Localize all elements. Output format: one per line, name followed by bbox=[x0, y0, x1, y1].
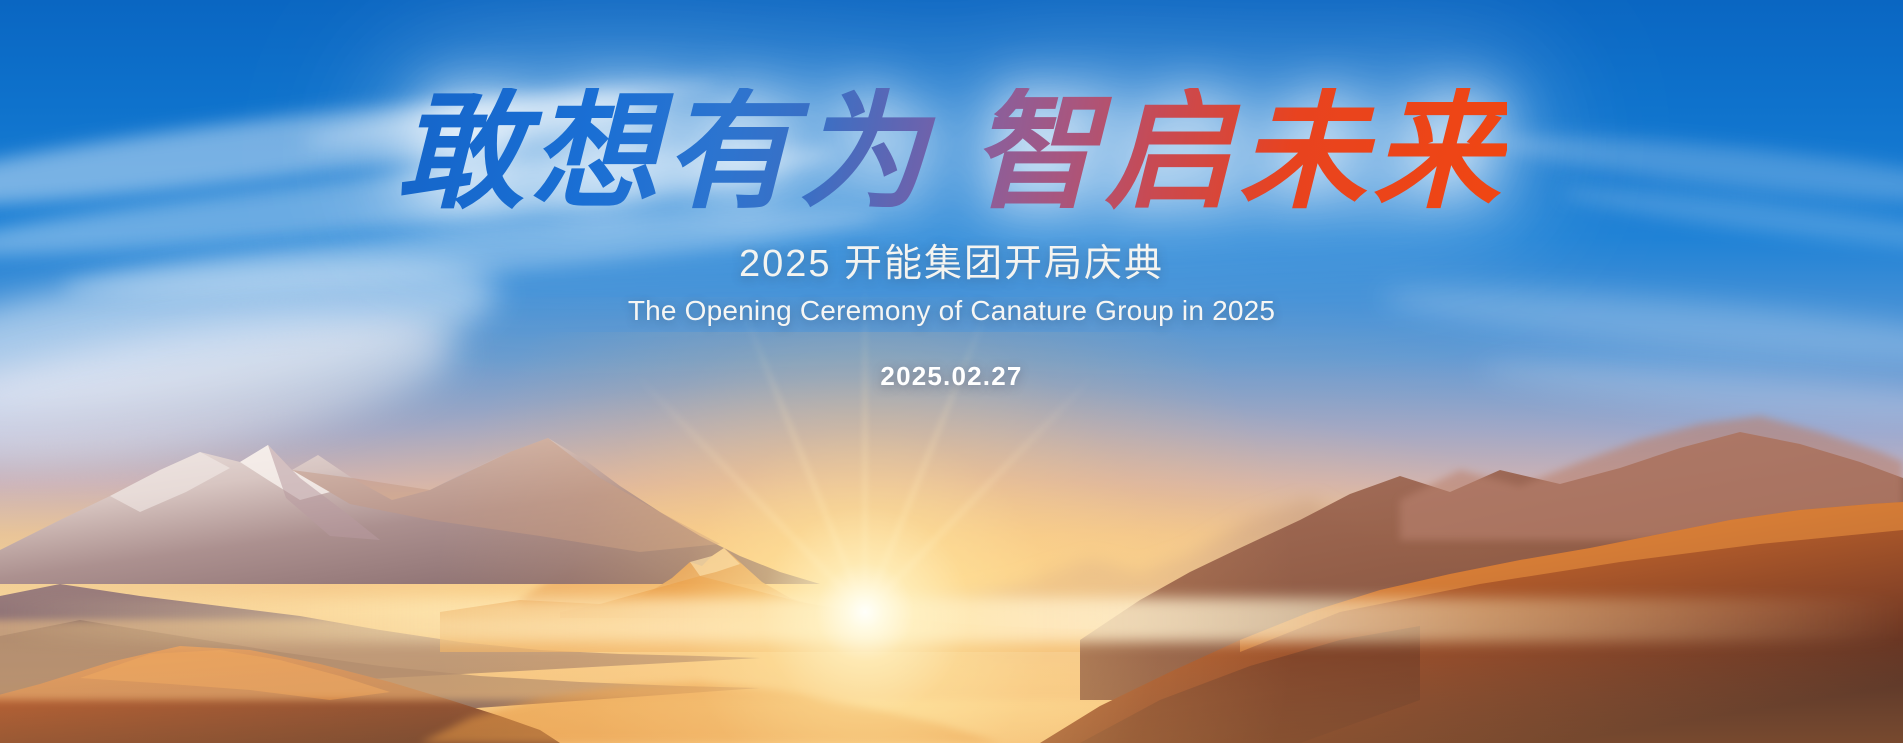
celebration-banner: 敢想有为智启未来 2025 开能集团开局庆典 The Opening Cerem… bbox=[0, 0, 1903, 743]
sunrise-warm-wash bbox=[0, 297, 1903, 743]
